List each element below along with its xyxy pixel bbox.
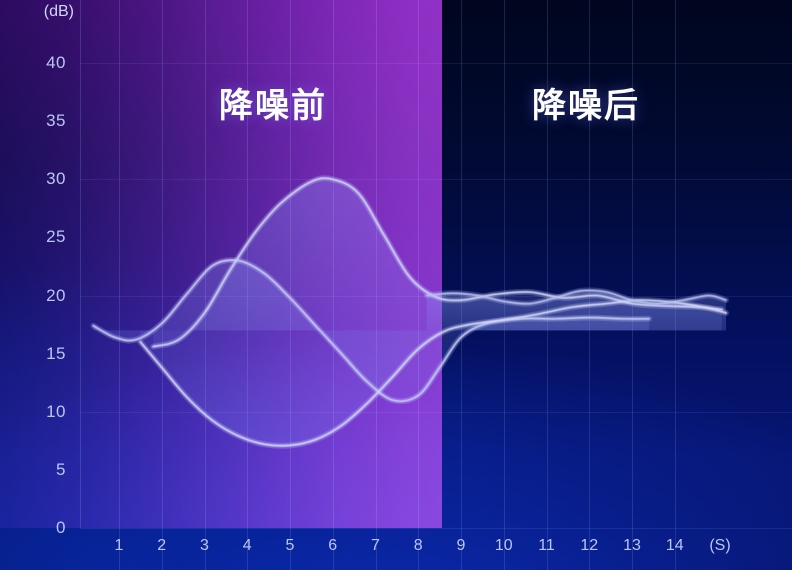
y-tick-label: 5 <box>0 460 66 480</box>
x-tick-label: 4 <box>243 537 252 555</box>
x-tick-label: 10 <box>495 537 513 555</box>
y-tick-label: 30 <box>0 169 66 189</box>
label-before-noise-reduction: 降噪前 <box>219 78 327 127</box>
waveform-curves <box>0 0 792 570</box>
x-tick-label: 6 <box>328 537 337 555</box>
y-tick-label: 25 <box>0 227 66 247</box>
x-tick-label: 1 <box>115 537 124 555</box>
x-tick-label: 12 <box>580 537 598 555</box>
x-tick-label: 8 <box>414 537 423 555</box>
x-tick-label: 14 <box>666 537 684 555</box>
y-tick-label: 15 <box>0 344 66 364</box>
x-tick-label: 11 <box>538 537 555 555</box>
x-tick-label: 9 <box>457 537 466 555</box>
x-axis-unit: (S) <box>709 537 730 555</box>
x-tick-label: 3 <box>200 537 209 555</box>
x-tick-label: 2 <box>157 537 166 555</box>
noise-reduction-chart: (dB) 4035302520151050 123456789101112131… <box>0 0 792 570</box>
y-axis-unit: (dB) <box>0 3 74 21</box>
x-tick-label: 7 <box>371 537 380 555</box>
y-tick-label: 40 <box>0 53 66 73</box>
y-tick-label: 0 <box>0 518 66 538</box>
y-tick-label: 10 <box>0 402 66 422</box>
y-tick-label: 20 <box>0 286 66 306</box>
label-after-noise-reduction: 降噪后 <box>532 78 640 127</box>
y-tick-label: 35 <box>0 111 66 131</box>
x-tick-label: 13 <box>623 537 641 555</box>
curve-fills <box>93 178 726 446</box>
x-tick-label: 5 <box>286 537 295 555</box>
